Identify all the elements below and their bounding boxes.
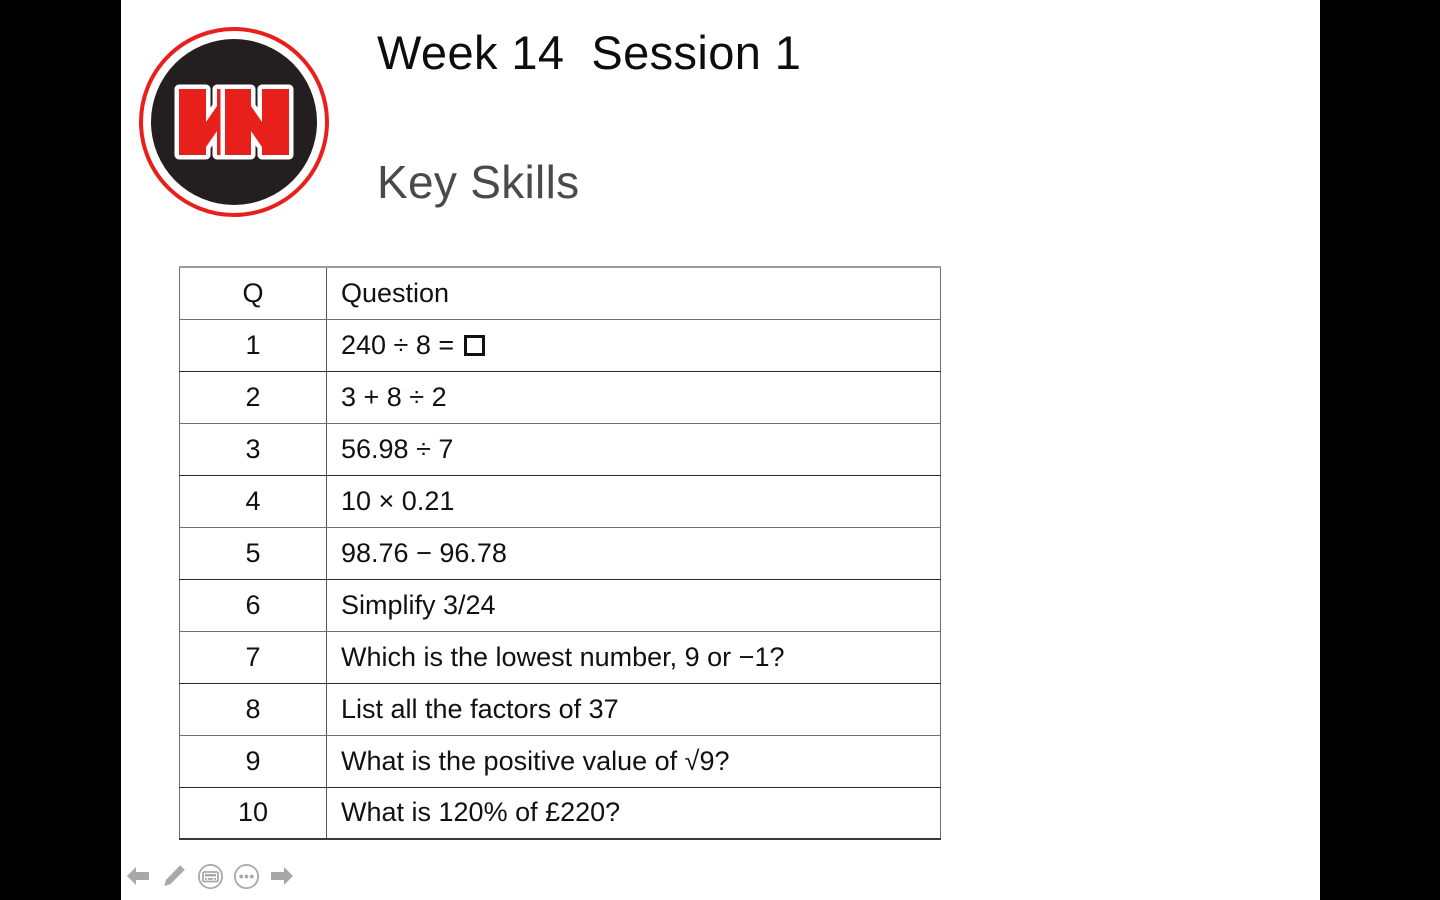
cell-question-number: 10 (180, 787, 327, 839)
questions-table: Q Question 1240 ÷ 8 = 23 + 8 ÷ 2356.98 ÷… (179, 266, 940, 840)
cell-question-text: 240 ÷ 8 = (327, 319, 941, 371)
header-question: Question (327, 267, 941, 319)
slide-title: Week 14 Session 1 (377, 27, 801, 79)
cell-question-number: 5 (180, 527, 327, 579)
cell-question-number: 6 (180, 579, 327, 631)
table-row: 8List all the factors of 37 (180, 683, 941, 735)
table-row: 6Simplify 3/24 (180, 579, 941, 631)
nh-logo-badge (139, 27, 329, 217)
previous-slide-button[interactable] (123, 861, 153, 891)
table-row: 356.98 ÷ 7 (180, 423, 941, 475)
cell-question-number: 1 (180, 319, 327, 371)
cell-question-text: 3 + 8 ÷ 2 (327, 371, 941, 423)
cell-question-number: 9 (180, 735, 327, 787)
cell-question-text: 98.76 − 96.78 (327, 527, 941, 579)
table-row: 23 + 8 ÷ 2 (180, 371, 941, 423)
cell-question-number: 3 (180, 423, 327, 475)
table-header-row: Q Question (180, 267, 941, 319)
slide-canvas: Week 14 Session 1 Key Skills Q Question … (121, 0, 1320, 900)
cell-question-text: What is 120% of £220? (327, 787, 941, 839)
logo-nh-monogram-icon (139, 27, 329, 217)
more-dots-icon (233, 863, 260, 890)
table-row: 9What is the positive value of √9? (180, 735, 941, 787)
cell-question-number: 2 (180, 371, 327, 423)
cell-question-text: List all the factors of 37 (327, 683, 941, 735)
cell-question-text: 10 × 0.21 (327, 475, 941, 527)
keyboard-button[interactable] (195, 861, 225, 891)
slide-toolbar (121, 858, 1320, 894)
arrow-right-icon (269, 865, 295, 887)
slide-viewport: Week 14 Session 1 Key Skills Q Question … (0, 0, 1440, 900)
keyboard-icon (197, 863, 224, 890)
answer-box-glyph (464, 335, 485, 356)
annotate-pencil-button[interactable] (159, 861, 189, 891)
slide-subtitle: Key Skills (377, 157, 579, 208)
pencil-icon (161, 863, 187, 889)
arrow-left-icon (125, 865, 151, 887)
more-options-button[interactable] (231, 861, 261, 891)
next-slide-button[interactable] (267, 861, 297, 891)
table-row: 10What is 120% of £220? (180, 787, 941, 839)
table-row: 410 × 0.21 (180, 475, 941, 527)
cell-question-number: 7 (180, 631, 327, 683)
cell-question-text: Simplify 3/24 (327, 579, 941, 631)
cell-question-text: What is the positive value of √9? (327, 735, 941, 787)
table-row: 7Which is the lowest number, 9 or −1? (180, 631, 941, 683)
question-text: 240 ÷ 8 = (341, 330, 462, 360)
cell-question-number: 8 (180, 683, 327, 735)
table-row: 598.76 − 96.78 (180, 527, 941, 579)
table-row: 1240 ÷ 8 = (180, 319, 941, 371)
cell-question-number: 4 (180, 475, 327, 527)
cell-question-text: Which is the lowest number, 9 or −1? (327, 631, 941, 683)
header-q: Q (180, 267, 327, 319)
cell-question-text: 56.98 ÷ 7 (327, 423, 941, 475)
